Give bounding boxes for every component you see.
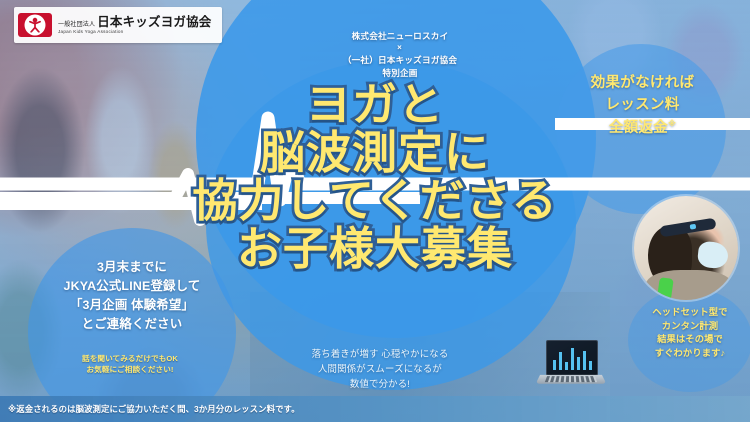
- refund-line-2: レッスン料: [560, 94, 725, 116]
- collab-association-line: （一社）日本キッズヨガ協会: [310, 54, 490, 66]
- association-logo[interactable]: 一般社団法人 日本キッズヨガ協会 Japan Kids Yoga Associa…: [14, 7, 222, 43]
- logo-main-text: 日本キッズヨガ協会: [97, 16, 211, 29]
- headset-caption-line-2: カンタン計測: [632, 320, 748, 334]
- line-registration-cta: 3月末までに JKYA公式LINE登録して 「3月企画 体験希望」 とご連絡くだ…: [26, 258, 238, 333]
- laptop-photo: [528, 340, 606, 398]
- cta-deadline-line: 3月末までに: [26, 258, 238, 277]
- laptop-screen: [546, 340, 598, 376]
- headset-caption-line-1: ヘッドセット型で: [632, 306, 748, 320]
- benefit-line-1: 落ち着きが増す 心穏やかになる: [282, 346, 478, 361]
- refund-line-3: 全額返金: [609, 120, 668, 136]
- headset-caption-line-4: すぐわかります♪: [632, 347, 748, 361]
- refund-badge: 効果がなければ レッスン料 全額返金※: [560, 72, 725, 139]
- headset-photo-mask: [697, 241, 730, 270]
- cta-sub-line-2: お気軽にご相談ください!: [40, 364, 220, 375]
- line-cta-subtext: 話を聞いてみるだけでもOK お気軽にご相談ください!: [40, 353, 220, 376]
- collab-cross-icon: ×: [310, 42, 490, 54]
- headset-photo-green-item: [656, 277, 673, 300]
- jkya-logo-mark-icon: [18, 13, 52, 37]
- logo-english-text: Japan Kids Yoga Association: [58, 30, 212, 35]
- headline-line-3: 協力してくださる: [175, 178, 575, 224]
- headset-caption-line-3: 結果はその場で: [632, 333, 748, 347]
- laptop-keyboard: [545, 376, 597, 382]
- cta-sub-line-1: 話を聞いてみるだけでもOK: [40, 353, 220, 364]
- collaboration-caption: 株式会社ニューロスカイ × （一社）日本キッズヨガ協会 特別企画: [310, 30, 490, 79]
- headset-caption: ヘッドセット型で カンタン計測 結果はその場で すぐわかります♪: [632, 306, 748, 360]
- collab-partner-line: 株式会社ニューロスカイ: [310, 30, 490, 42]
- cta-keyword-line: 「3月企画 体験希望」: [26, 296, 238, 315]
- collab-special-line: 特別企画: [310, 67, 490, 79]
- headline-line-1: ヨガと: [175, 82, 575, 128]
- benefit-line-3: 数値で分かる!: [282, 376, 478, 391]
- benefit-line-2: 人間関係がスムーズになるが: [282, 361, 478, 376]
- cta-contact-line: とご連絡ください: [26, 315, 238, 334]
- headline-line-2: 脳波測定に: [175, 130, 575, 176]
- disclaimer-text: ※返金されるのは脳波測定にご協力いただく間、3か月分のレッスン料です。: [0, 403, 300, 415]
- logo-lead-text: 一般社団法人: [58, 22, 95, 28]
- refund-asterisk: ※: [668, 119, 676, 128]
- disclaimer-bar: ※返金されるのは脳波測定にご協力いただく間、3か月分のレッスン料です。: [0, 396, 750, 422]
- page-title: ヨガと 脳波測定に 協力してくださる お子様大募集: [175, 82, 575, 272]
- benefits-text: 落ち着きが増す 心穏やかになる 人間関係がスムーズになるが 数値で分かる!: [282, 346, 478, 392]
- promo-banner: 一般社団法人 日本キッズヨガ協会 Japan Kids Yoga Associa…: [0, 0, 750, 422]
- association-logo-text: 一般社団法人 日本キッズヨガ協会 Japan Kids Yoga Associa…: [58, 16, 212, 35]
- headset-photo: [634, 196, 738, 300]
- refund-line-3-wrap: 全額返金※: [560, 117, 725, 139]
- yoga-figure-icon: [29, 18, 42, 33]
- refund-line-1: 効果がなければ: [560, 72, 725, 94]
- cta-register-line: JKYA公式LINE登録して: [26, 277, 238, 296]
